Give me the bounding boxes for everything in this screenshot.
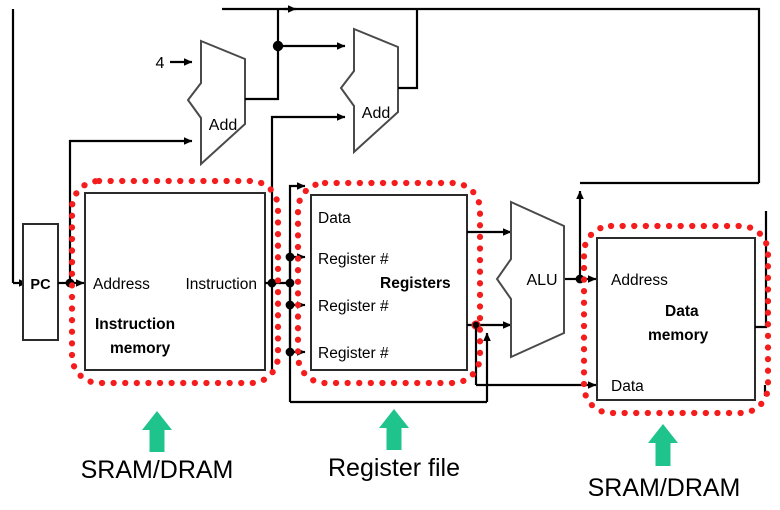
registers-name: Registers <box>380 275 451 292</box>
imem-port-address: Address <box>93 276 150 293</box>
datapath-diagram: PC 4 Add Add ALU Address Instruction Ins… <box>0 0 780 510</box>
dmem-name-line2: memory <box>648 327 709 344</box>
caption-register-file-tech: Register file <box>328 454 460 482</box>
labels-layer: PC 4 Add Add ALU Address Instruction Ins… <box>0 0 780 510</box>
alu-label: ALU <box>526 272 557 289</box>
imem-port-instruction: Instruction <box>185 276 257 293</box>
adder-left-label: Add <box>209 117 237 134</box>
dmem-port-data: Data <box>611 378 644 395</box>
registers-port-data: Data <box>318 210 351 227</box>
dmem-name-line1: Data <box>665 303 699 320</box>
registers-port-regnum-2: Register # <box>318 298 389 315</box>
registers-port-regnum-3: Register # <box>318 345 389 362</box>
adder-right-label: Add <box>362 105 390 122</box>
registers-port-regnum-1: Register # <box>318 251 389 268</box>
caption-data-memory-tech: SRAM/DRAM <box>588 474 741 502</box>
imem-name-line2: memory <box>110 340 171 357</box>
caption-instruction-memory-tech: SRAM/DRAM <box>81 456 234 484</box>
constant-four-label: 4 <box>156 55 165 72</box>
imem-name-line1: Instruction <box>95 316 175 333</box>
dmem-port-address: Address <box>611 272 668 289</box>
pc-label: PC <box>30 277 51 293</box>
